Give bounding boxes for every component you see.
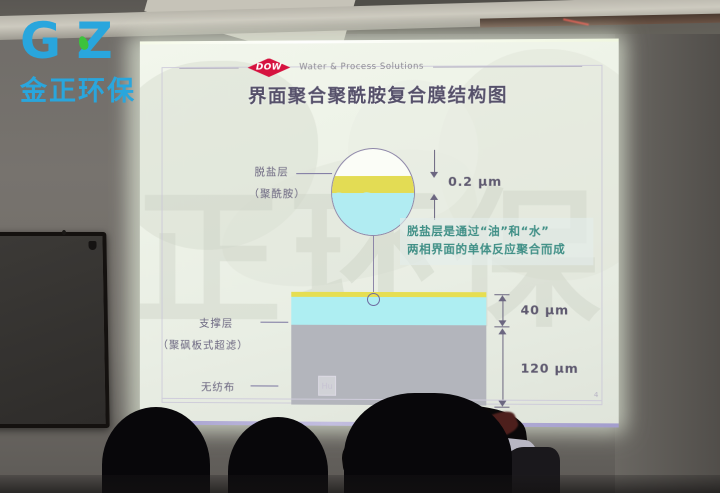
slide-page-number: 4 [594, 391, 599, 399]
logo-company-name: 金正环保 [20, 69, 180, 108]
label-nonwoven: 无纺布 [201, 379, 235, 394]
dow-logo-icon: DOW [248, 58, 291, 77]
layer-polysulfone-support [291, 297, 486, 325]
header-rule-left [179, 67, 238, 68]
dim-line-bottom [434, 200, 435, 220]
label-desalination-material: （聚酰胺） [249, 186, 306, 201]
slide-header: DOW Water & Process Solutions [179, 53, 582, 81]
annotation-box: 脱盐层是通过“油”和“水” 两相界面的单体反应聚合而成 [400, 218, 593, 265]
dim-line-top [434, 150, 435, 172]
magnifier-stem-line [373, 236, 374, 297]
label-support-material: （聚砜板式超滤） [158, 337, 249, 352]
board-clip-icon [88, 241, 96, 250]
magnified-interface-wave [332, 189, 414, 200]
arrow-down-icon [430, 172, 438, 178]
dow-tagline: Water & Process Solutions [299, 62, 424, 73]
label-support-layer: 支撑层 [199, 316, 233, 331]
annotation-line-1: 脱盐层是通过“油”和“水” [407, 223, 586, 241]
dow-logo-text: DOW [256, 63, 282, 73]
dimension-skin-label: 0.2 μm [448, 174, 502, 189]
magnifier-anchor-circle [367, 293, 380, 306]
dim-line [502, 299, 503, 321]
label-desalination-layer: 脱盐层 [255, 164, 289, 179]
leader-line-desalination [296, 173, 332, 174]
leader-line-nonwoven [251, 385, 279, 387]
logo-monogram: G Z [20, 14, 180, 68]
leader-line-support [260, 322, 288, 323]
dim-line [502, 333, 503, 400]
footer-mark: Hu [318, 376, 336, 396]
dimension-backing-label: 120 μm [521, 361, 579, 376]
room-wall-right [615, 0, 720, 493]
screenshot-stage: 正环保 DOW Water & Process Solutions 界面聚合聚酰… [0, 0, 720, 493]
board-nail [62, 230, 66, 235]
projection-screen: 正环保 DOW Water & Process Solutions 界面聚合聚酰… [140, 39, 619, 428]
dim-tick-bottom [494, 407, 509, 408]
slide-title: 界面聚合聚酰胺复合膜结构图 [140, 81, 619, 109]
header-rule-right [433, 65, 582, 67]
foreground-shadow [0, 475, 720, 493]
dimension-support-label: 40 μm [521, 302, 569, 317]
wall-board [0, 232, 110, 428]
annotation-line-2: 两相界面的单体反应聚合而成 [407, 241, 586, 259]
channel-logo-overlay: G Z 金正环保 [20, 14, 180, 106]
